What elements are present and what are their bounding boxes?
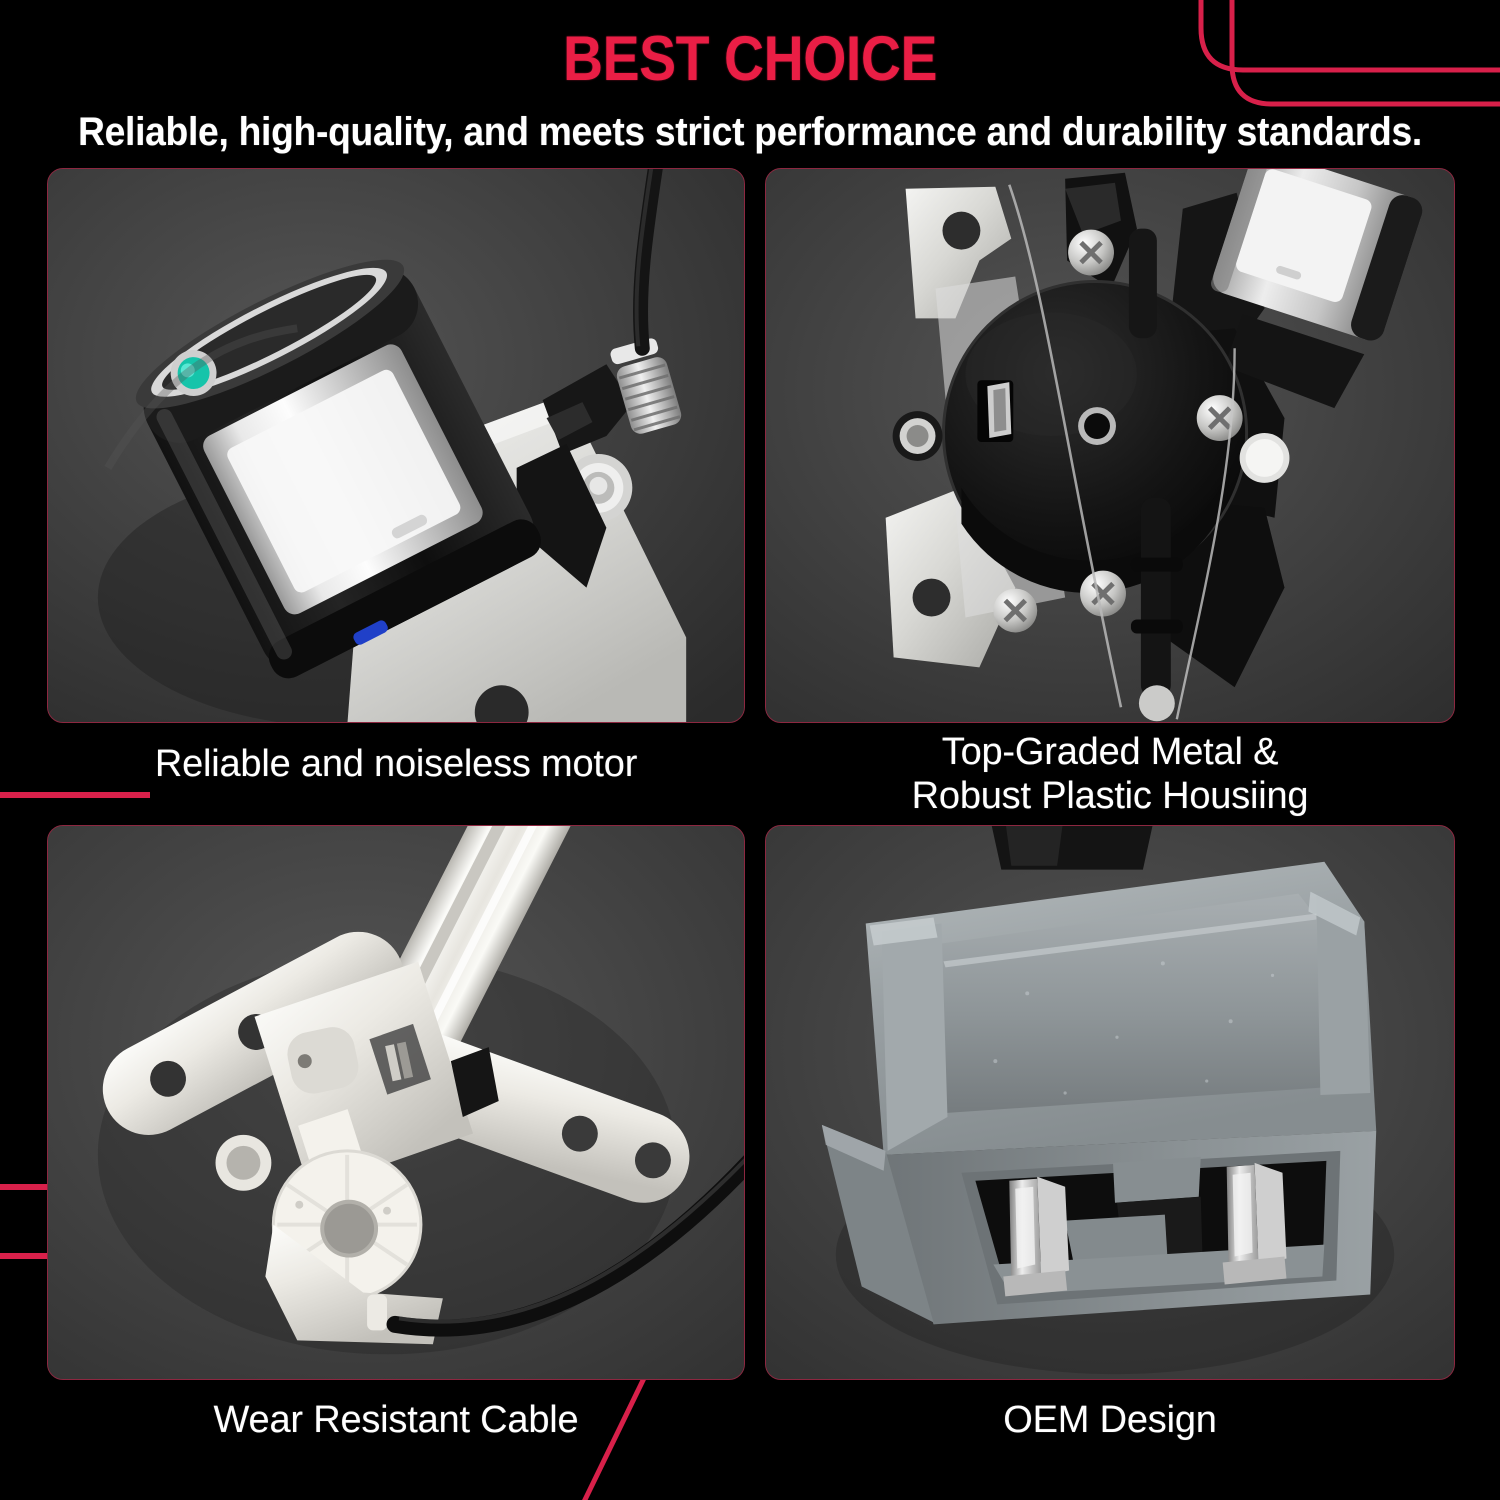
connector-illustration — [766, 826, 1454, 1379]
motor-illustration — [48, 169, 744, 722]
product-photo-housing — [765, 168, 1455, 723]
feature-grid: Reliable and noiseless motor — [0, 0, 1500, 1500]
feature-caption-housing-line-1: Top-Graded Metal & — [765, 730, 1455, 774]
product-photo-regulator — [47, 825, 745, 1380]
page-title: BEST CHOICE — [90, 0, 1410, 91]
feature-caption-housing: Top-Graded Metal & Robust Plastic Housii… — [765, 730, 1455, 819]
product-photo-connector — [765, 825, 1455, 1380]
feature-caption-housing-line-2: Robust Plastic Housiing — [765, 774, 1455, 818]
housing-illustration — [766, 169, 1454, 722]
product-photo-motor — [47, 168, 745, 723]
regulator-illustration — [48, 826, 744, 1379]
page-subtitle: Reliable, high-quality, and meets strict… — [53, 112, 1448, 152]
feature-caption-cable: Wear Resistant Cable — [47, 1398, 745, 1442]
feature-caption-oem: OEM Design — [765, 1398, 1455, 1442]
feature-caption-motor: Reliable and noiseless motor — [47, 742, 745, 786]
header: BEST CHOICE Reliable, high-quality, and … — [0, 0, 1500, 152]
